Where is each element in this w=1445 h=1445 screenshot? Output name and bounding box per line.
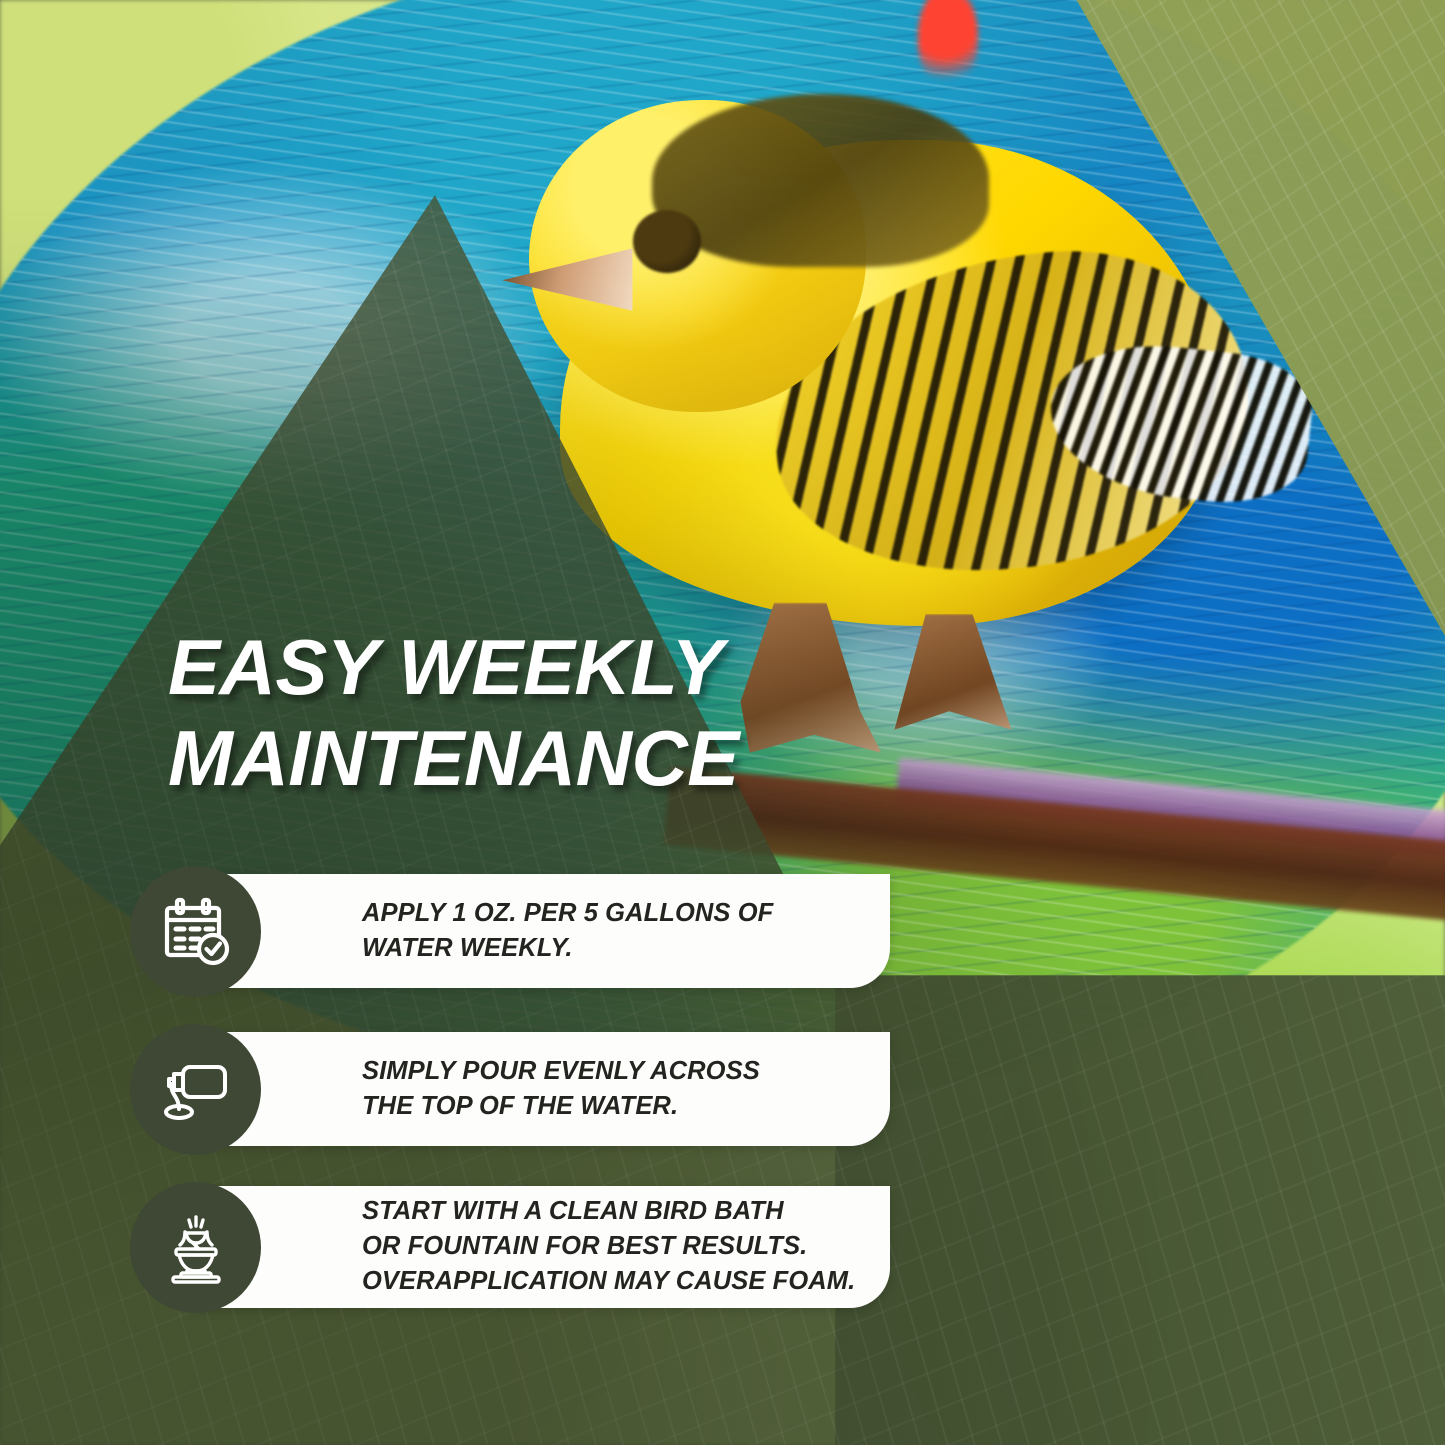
step-2-line-1: SIMPLY POUR EVENLY ACROSS <box>362 1054 872 1089</box>
calendar-check-icon <box>159 895 233 969</box>
step-text-2: SIMPLY POUR EVENLY ACROSS THE TOP OF THE… <box>362 1054 872 1124</box>
headline-line-2: MAINTENANCE <box>168 713 868 804</box>
step-text-3: START WITH A CLEAN BIRD BATH OR FOUNTAIN… <box>362 1194 872 1300</box>
headline-line-1: EASY WEEKLY <box>168 623 723 711</box>
step-3-line-3: OVERAPPLICATION MAY CAUSE FOAM. <box>362 1265 872 1300</box>
content-layer: EASY WEEKLY MAINTENANCE APPLY 1 OZ. PER … <box>0 0 1445 1445</box>
step-1-line-2: WATER WEEKLY. <box>362 931 872 966</box>
product-infographic-poster: EASY WEEKLY MAINTENANCE APPLY 1 OZ. PER … <box>0 0 1445 1445</box>
list-item: START WITH A CLEAN BIRD BATH OR FOUNTAIN… <box>130 1182 890 1313</box>
pouring-bottle-icon <box>159 1053 233 1127</box>
list-item: APPLY 1 OZ. PER 5 GALLONS OF WATER WEEKL… <box>130 866 890 997</box>
list-item: SIMPLY POUR EVENLY ACROSS THE TOP OF THE… <box>130 1024 890 1155</box>
step-1-line-1: APPLY 1 OZ. PER 5 GALLONS OF <box>362 896 872 931</box>
fountain-icon <box>159 1211 233 1285</box>
step-2-line-2: THE TOP OF THE WATER. <box>362 1089 872 1124</box>
step-pill-3: START WITH A CLEAN BIRD BATH OR FOUNTAIN… <box>190 1186 890 1308</box>
step-3-line-1: START WITH A CLEAN BIRD BATH <box>362 1194 872 1229</box>
page-title: EASY WEEKLY MAINTENANCE <box>168 622 868 805</box>
instruction-steps-list: APPLY 1 OZ. PER 5 GALLONS OF WATER WEEKL… <box>130 866 890 1313</box>
step-icon-badge-1 <box>130 866 261 997</box>
step-icon-badge-2 <box>130 1024 261 1155</box>
step-pill-2: SIMPLY POUR EVENLY ACROSS THE TOP OF THE… <box>190 1032 890 1146</box>
step-3-line-2: OR FOUNTAIN FOR BEST RESULTS. <box>362 1229 872 1264</box>
step-pill-1: APPLY 1 OZ. PER 5 GALLONS OF WATER WEEKL… <box>190 874 890 988</box>
step-text-1: APPLY 1 OZ. PER 5 GALLONS OF WATER WEEKL… <box>362 896 872 966</box>
step-icon-badge-3 <box>130 1182 261 1313</box>
